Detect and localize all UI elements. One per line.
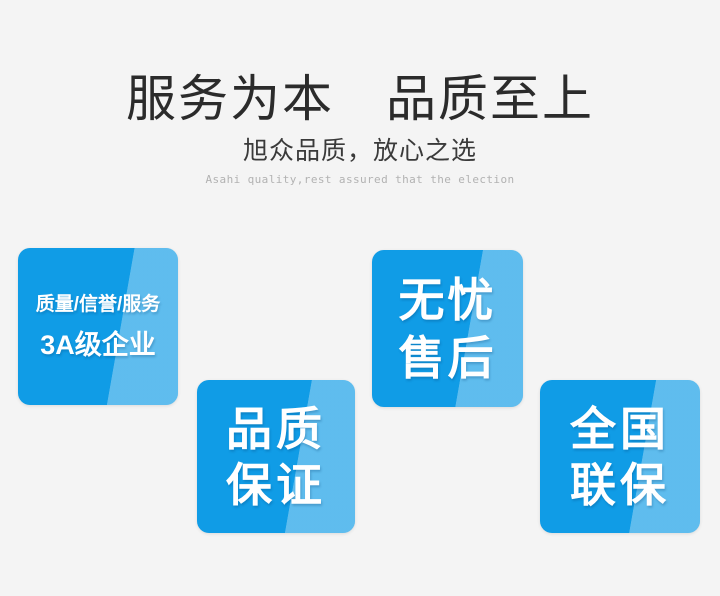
badge-line-secondary: 保证: [197, 457, 355, 513]
badge-line-primary: 质量/信誉/服务: [18, 293, 178, 317]
badge-line-secondary: 联保: [540, 457, 700, 513]
badge-text-group: 品质 保证: [197, 401, 355, 513]
badge-line-primary: 全国: [540, 401, 700, 457]
subtitle-chinese: 旭众品质，放心之选: [0, 136, 720, 166]
badge-quality-guarantee[interactable]: 品质 保证: [197, 380, 355, 533]
badge-line-primary: 品质: [197, 401, 355, 457]
subtitle-english: Asahi quality,rest assured that the elec…: [0, 173, 720, 187]
promo-banner: 服务为本 品质至上 旭众品质，放心之选 Asahi quality,rest a…: [0, 0, 720, 596]
badge-text-group: 全国 联保: [540, 401, 700, 513]
badge-worry-free-after-sales[interactable]: 无忧 售后: [372, 250, 523, 407]
badge-text-group: 无忧 售后: [372, 271, 523, 387]
badge-nationwide-warranty[interactable]: 全国 联保: [540, 380, 700, 533]
badge-line-primary: 无忧: [372, 271, 523, 329]
heading-block: 服务为本 品质至上 旭众品质，放心之选 Asahi quality,rest a…: [0, 0, 720, 187]
badge-line-secondary: 3A级企业: [18, 329, 178, 361]
badge-line-secondary: 售后: [372, 329, 523, 387]
badge-3a-enterprise[interactable]: 质量/信誉/服务 3A级企业: [18, 248, 178, 405]
page-title: 服务为本 品质至上: [0, 70, 720, 128]
badge-text-group: 质量/信誉/服务 3A级企业: [18, 293, 178, 361]
